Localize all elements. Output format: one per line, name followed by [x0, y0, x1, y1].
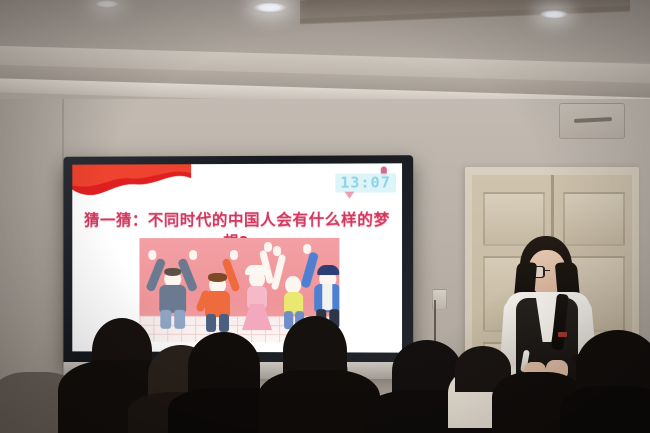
- wall-plaque: [559, 103, 625, 139]
- audience-member-body: [258, 370, 380, 433]
- illustration-figure: [151, 252, 195, 328]
- downlight-icon: [253, 2, 287, 13]
- slide-clock: 13:07: [335, 173, 396, 193]
- downlight-icon: [540, 10, 568, 19]
- clock-marker-icon: [344, 192, 354, 199]
- plaque-mark-icon: [574, 117, 612, 123]
- illustration-figure: [199, 256, 239, 328]
- audience-member-body: [560, 386, 650, 433]
- downlight-icon: [95, 0, 119, 8]
- red-flag-icon: [72, 164, 191, 210]
- presenter-badge: [558, 332, 567, 337]
- illustration-figure: [239, 250, 277, 328]
- classroom-presentation-photo: 13:07 猜一猜：不同时代的中国人会有什么样的梦想?: [0, 0, 650, 433]
